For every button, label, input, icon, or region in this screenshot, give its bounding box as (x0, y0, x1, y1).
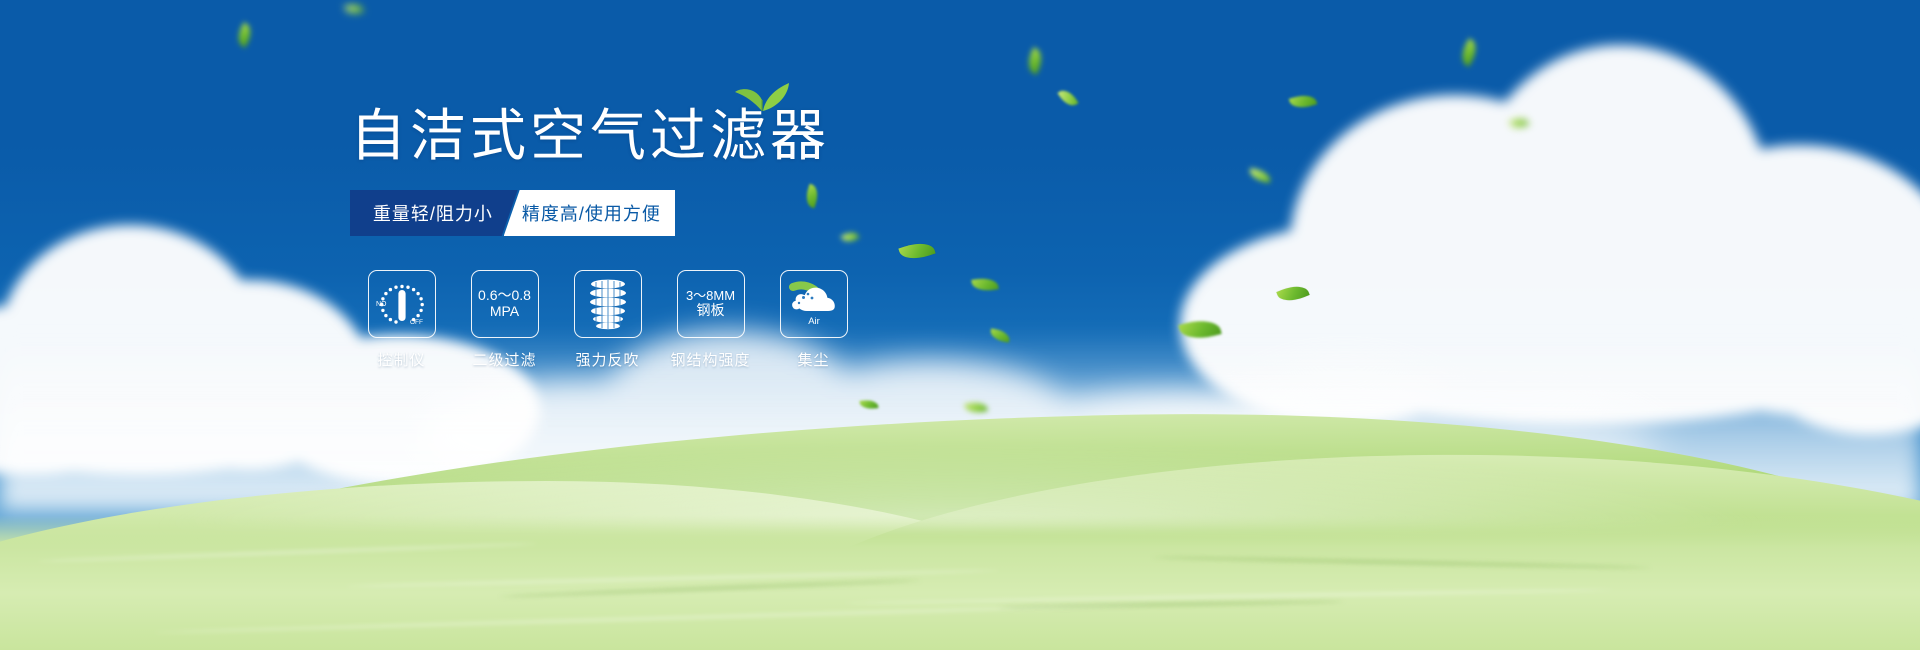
product-hero-banner: 自洁式空气过滤器 重量轻/阻力小 精度高/使用方便 (0, 0, 1920, 650)
tab-precision-convenience[interactable]: 精度高/使用方便 (504, 190, 675, 236)
feature-item-dust-collection[interactable]: Air 集尘 (762, 270, 865, 370)
feature-label-steel-strength: 钢结构强度 (670, 349, 750, 370)
tab-weight-resistance[interactable]: 重量轻/阻力小 (350, 190, 518, 236)
filter-coil-icon (574, 270, 642, 338)
air-label: Air (808, 316, 820, 327)
steel-material: 钢板 (697, 303, 725, 319)
feature-label-dust-collection: 集尘 (797, 349, 829, 370)
svg-text:NO: NO (376, 301, 387, 308)
page-title: 自洁式空气过滤器 (350, 108, 830, 164)
feature-label-backblow: 强力反吹 (575, 349, 639, 370)
svg-text:OFF: OFF (410, 319, 423, 326)
pressure-text-icon: 0.6～0.8 MPA (471, 270, 539, 338)
leaf-pair-icon (732, 78, 792, 112)
feature-item-backblow[interactable]: 强力反吹 (556, 270, 659, 370)
feature-item-steel-strength[interactable]: 3～8MM 钢板 钢结构强度 (659, 270, 762, 370)
feature-icon-row: NO OFF 控制仪 0.6～0.8 MPA 二级过滤 (350, 270, 1070, 370)
air-cloud-icon: Air (780, 270, 848, 338)
grass-field (0, 360, 1920, 650)
feature-tabs[interactable]: 重量轻/阻力小 精度高/使用方便 (350, 190, 675, 236)
feature-label-filtration: 二级过滤 (472, 349, 536, 370)
pressure-value: 0.6～0.8 (478, 288, 531, 304)
banner-content: 自洁式空气过滤器 重量轻/阻力小 精度高/使用方便 (350, 108, 1070, 370)
feature-item-filtration[interactable]: 0.6～0.8 MPA 二级过滤 (453, 270, 556, 370)
feature-item-controller[interactable]: NO OFF 控制仪 (350, 270, 453, 370)
pressure-unit: MPA (490, 304, 519, 320)
title-wrapper: 自洁式空气过滤器 (350, 108, 830, 164)
feature-label-controller: 控制仪 (377, 349, 425, 370)
gauge-dial-icon: NO OFF (368, 270, 436, 338)
steel-thickness: 3～8MM (686, 289, 735, 304)
steel-plate-text-icon: 3～8MM 钢板 (677, 270, 745, 338)
